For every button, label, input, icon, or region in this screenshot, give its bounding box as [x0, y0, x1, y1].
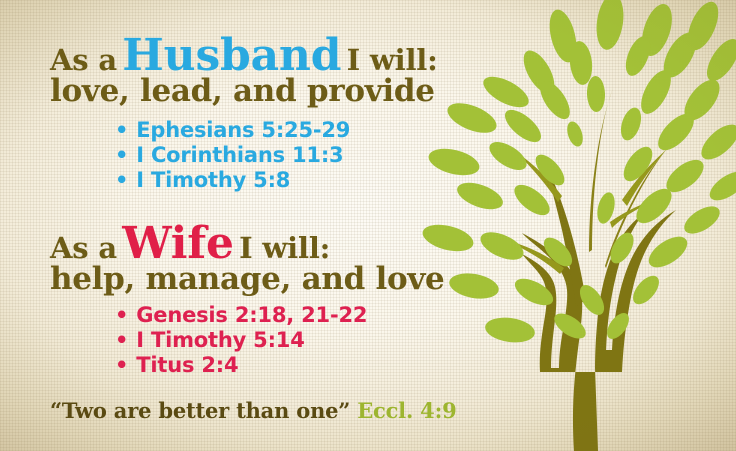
- list-item: Titus 2:4: [115, 353, 367, 378]
- wife-tail: I will:: [239, 231, 330, 265]
- list-item: I Corinthians 11:3: [115, 143, 350, 168]
- leaf: [617, 105, 645, 143]
- leaf: [696, 118, 736, 165]
- poster-canvas: As a Husband I will: love, lead, and pro…: [0, 0, 736, 451]
- wife-reference-list: Genesis 2:18, 21-22 I Timothy 5:14 Titus…: [115, 303, 367, 378]
- leaf: [564, 119, 585, 148]
- leaf: [500, 104, 547, 148]
- list-item: I Timothy 5:8: [115, 168, 350, 193]
- leaf: [680, 201, 725, 239]
- husband-reference-list: Ephesians 5:25-29 I Corinthians 11:3 I T…: [115, 118, 350, 193]
- list-item: I Timothy 5:14: [115, 328, 367, 353]
- leaf: [586, 76, 605, 113]
- list-item: Ephesians 5:25-29: [115, 118, 350, 143]
- text-stack: As a Husband I will: love, lead, and pro…: [0, 0, 470, 451]
- leaf: [705, 166, 736, 206]
- main-branch-center: [589, 88, 613, 252]
- leaf: [485, 136, 531, 175]
- husband-tail: I will:: [347, 43, 438, 77]
- husband-lead: As a: [50, 43, 117, 77]
- quote-citation: Eccl. 4:9: [357, 398, 456, 423]
- wife-lead: As a: [50, 231, 117, 265]
- leaf: [484, 315, 537, 346]
- quote-text: “Two are better than one”: [50, 398, 350, 423]
- leaf: [479, 71, 533, 114]
- footer-quote: “Two are better than one”Eccl. 4:9: [50, 398, 457, 423]
- leaf: [593, 0, 627, 52]
- wife-promise: help, manage, and love: [50, 264, 444, 295]
- list-item: Genesis 2:18, 21-22: [115, 303, 367, 328]
- husband-promise: love, lead, and provide: [50, 76, 435, 107]
- leaf: [477, 227, 528, 266]
- tree-trunk-group: [506, 88, 676, 451]
